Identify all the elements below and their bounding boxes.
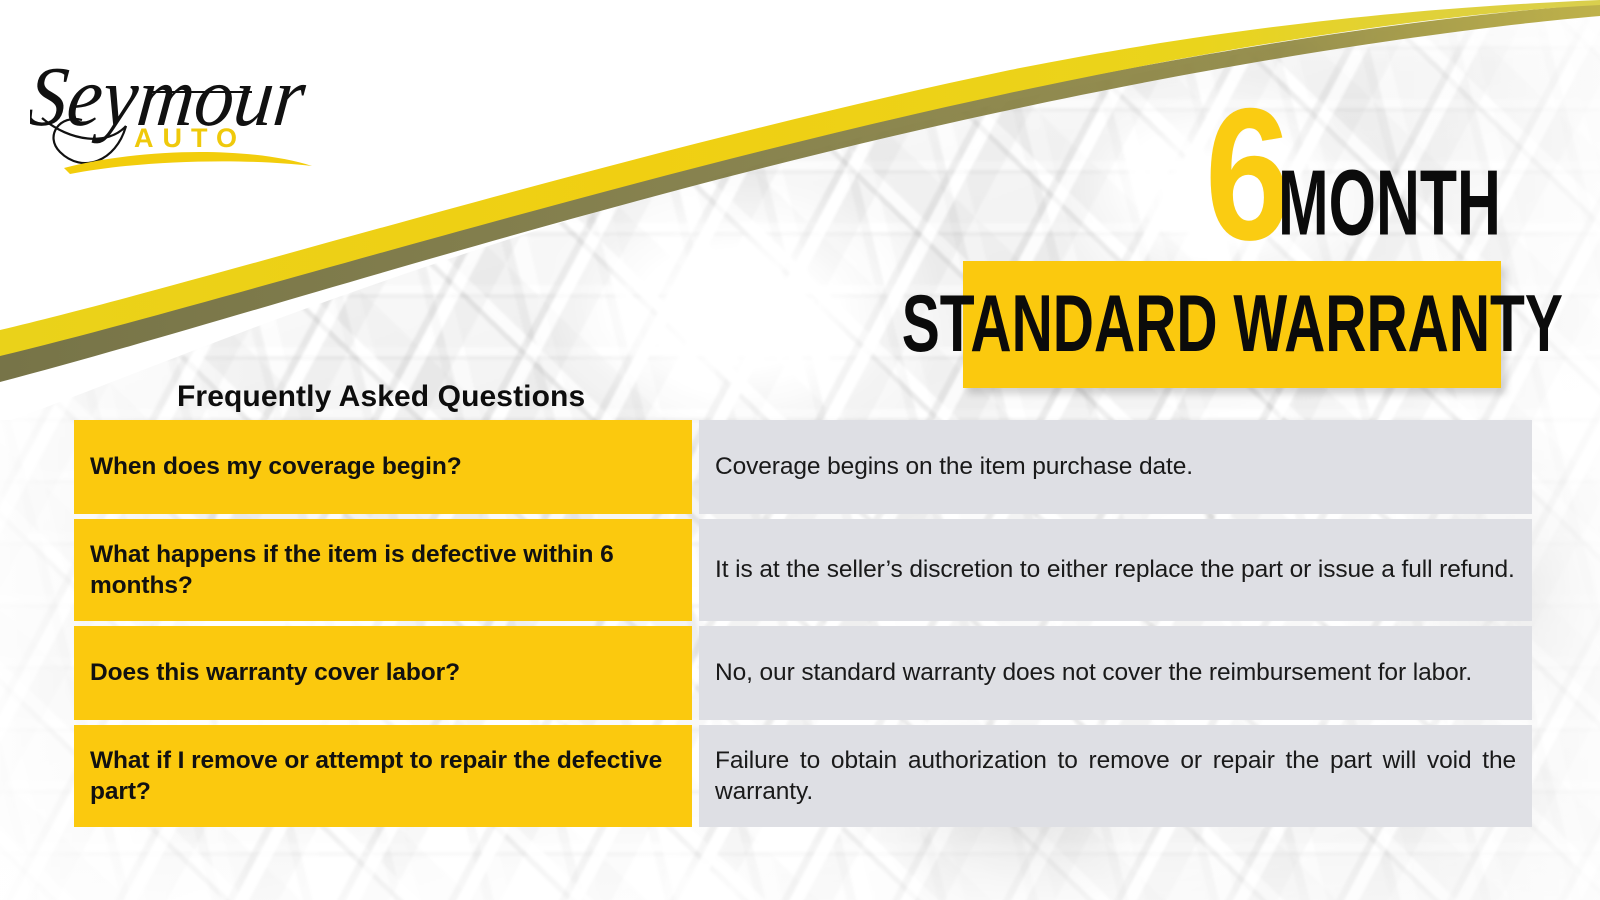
faq-answer-text: No, our standard warranty does not cover… [715, 657, 1472, 688]
table-row: When does my coverage begin? Coverage be… [74, 420, 1532, 514]
logo-swoosh [64, 152, 312, 174]
faq-question-cell: When does my coverage begin? [74, 420, 692, 514]
faq-heading: Frequently Asked Questions [177, 380, 585, 414]
faq-table: When does my coverage begin? Coverage be… [74, 420, 1532, 827]
warranty-months-unit: MONTH [1278, 166, 1501, 242]
standard-warranty-banner: STANDARD WARRANTY [963, 261, 1501, 388]
logo-auto-word: AUTO [134, 123, 246, 153]
warranty-slide: Seymour AUTO 6 MONTH STANDARD WARRANTY F… [0, 0, 1600, 900]
warranty-duration-headline: 6 MONTH [1205, 78, 1556, 248]
faq-question-cell: Does this warranty cover labor? [74, 626, 692, 720]
faq-question-text: When does my coverage begin? [90, 451, 462, 482]
table-row: What if I remove or attempt to repair th… [74, 725, 1532, 827]
faq-answer-cell: It is at the seller’s discretion to eith… [699, 519, 1532, 621]
faq-question-text: What if I remove or attempt to repair th… [90, 745, 676, 808]
faq-answer-cell: No, our standard warranty does not cover… [699, 626, 1532, 720]
faq-question-cell: What if I remove or attempt to repair th… [74, 725, 692, 827]
faq-answer-cell: Failure to obtain authorization to remov… [699, 725, 1532, 827]
faq-answer-text: Failure to obtain authorization to remov… [715, 745, 1516, 808]
faq-question-cell: What happens if the item is defective wi… [74, 519, 692, 621]
seymour-auto-logo: Seymour AUTO [30, 22, 330, 182]
faq-answer-text: It is at the seller’s discretion to eith… [715, 554, 1515, 585]
faq-answer-cell: Coverage begins on the item purchase dat… [699, 420, 1532, 514]
faq-question-text: What happens if the item is defective wi… [90, 539, 676, 602]
table-row: What happens if the item is defective wi… [74, 519, 1532, 621]
warranty-months-number: 6 [1205, 101, 1289, 248]
faq-answer-text: Coverage begins on the item purchase dat… [715, 451, 1193, 482]
faq-question-text: Does this warranty cover labor? [90, 657, 460, 688]
table-row: Does this warranty cover labor? No, our … [74, 626, 1532, 720]
standard-warranty-banner-text: STANDARD WARRANTY [901, 284, 1562, 365]
